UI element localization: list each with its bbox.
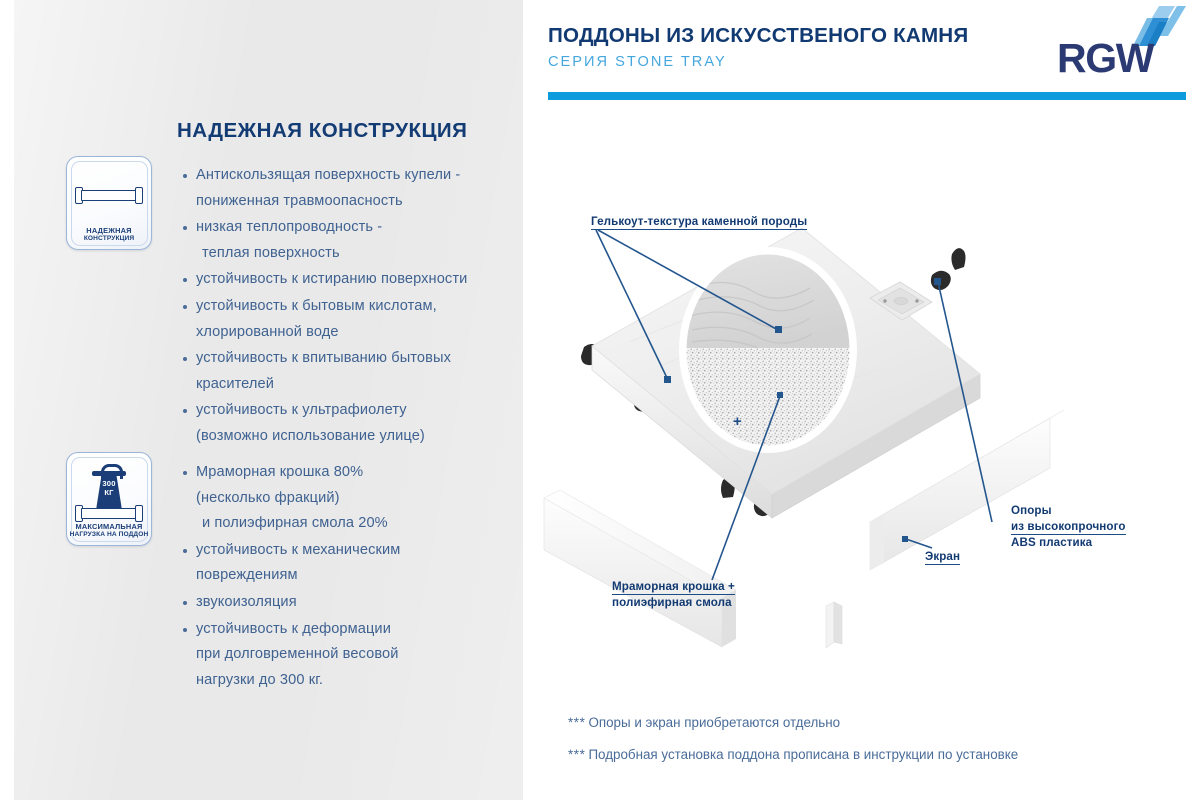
screen-panel-left [544, 490, 736, 647]
footnote: ***Опоры и экран приобретаются отдельно [568, 714, 1168, 732]
left-panel-title: НАДЕЖНАЯ КОНСТРУКЦИЯ [177, 119, 497, 143]
list-item-line: устойчивость к впитыванию бытовых [196, 346, 533, 372]
list-item-line: устойчивость к истиранию поверхности [196, 267, 533, 293]
list-item: устойчивость к ультрафиолету(возможно ис… [181, 398, 533, 449]
label-marble-resin: Мраморная крошка + полиэфирная смола [612, 579, 735, 610]
shower-tray-profile-icon [75, 187, 143, 203]
list-item-line: (возможно использование улице) [196, 424, 533, 450]
badge-caption-line-1: МАКСИМАЛЬНАЯ [67, 523, 151, 532]
footnote-text: Опоры и экран приобретаются отдельно [588, 715, 840, 730]
weight-unit: КГ [104, 488, 113, 497]
list-item: Мраморная крошка 80%(несколько фракций) … [181, 460, 533, 537]
shower-tray-profile-icon [75, 505, 143, 521]
list-item: устойчивость к бытовым кислотам,хлориров… [181, 294, 533, 345]
header-divider [548, 92, 1186, 100]
list-item-line: повреждениям [196, 563, 533, 589]
badge-caption-line-2: КОНСТРУКЦИЯ [67, 235, 151, 243]
weight-label: 300 КГ [92, 480, 126, 497]
badge-caption: МАКСИМАЛЬНАЯ НАГРУЗКА НА ПОДДОН [67, 523, 151, 539]
list-item-line: теплая поверхность [196, 241, 533, 267]
list-item: звукоизоляция [181, 590, 533, 616]
list-item-line: хлорированной воде [196, 320, 533, 346]
feature-list-reliable-construction: Антискользящая поверхность купели -пониж… [181, 163, 533, 451]
list-item: устойчивость к впитыванию бытовыхкрасите… [181, 346, 533, 397]
list-item: устойчивость к деформациипри долговремен… [181, 617, 533, 694]
list-item-line: низкая теплопроводность - [196, 215, 533, 241]
badge-caption-line-1: НАДЕЖНАЯ [67, 227, 151, 236]
tray-right-cap [135, 505, 143, 522]
footnote-asterisks: *** [568, 715, 585, 730]
footnote: ***Подробная установка поддона прописана… [568, 746, 1168, 764]
footnote-asterisks: *** [568, 747, 585, 762]
plus-symbol: + [733, 413, 742, 430]
label-abs-supports-line-2: из высокопрочного [1011, 519, 1126, 536]
list-item-line: устойчивость к деформации [196, 617, 533, 643]
list-item: Антискользящая поверхность купели -пониж… [181, 163, 533, 214]
feature-list-max-load: Мраморная крошка 80%(несколько фракций) … [181, 460, 533, 694]
list-item-line: устойчивость к ультрафиолету [196, 398, 533, 424]
rgw-logo: RGW [1055, 4, 1187, 80]
label-abs-supports: Опоры из высокопрочного ABS пластика [1011, 503, 1126, 551]
badge-caption: НАДЕЖНАЯ КОНСТРУКЦИЯ [67, 227, 151, 243]
max-load-weight-icon: 300 КГ [92, 464, 126, 510]
tray-right-cap [135, 187, 143, 204]
list-item: устойчивость к механическимповреждениям [181, 538, 533, 589]
list-item: устойчивость к истиранию поверхности [181, 267, 533, 293]
list-item-line: Мраморная крошка 80% [196, 460, 533, 486]
label-abs-supports-line-3: ABS пластика [1011, 536, 1092, 549]
footnote-text: Подробная установка поддона прописана в … [588, 747, 1018, 762]
list-item: низкая теплопроводность - теплая поверхн… [181, 215, 533, 266]
left-panel: НАДЕЖНАЯ КОНСТРУКЦИЯ НАДЕЖНАЯ КОНСТРУКЦИ… [14, 0, 523, 800]
label-marble-resin-line-2: полиэфирная смола [612, 596, 732, 609]
label-gelcoat: Гелькоут-текстура каменной породы [591, 214, 807, 230]
list-item-line: Антискользящая поверхность купели - [196, 163, 533, 189]
tray-body [81, 190, 137, 201]
badge-caption-line-2: НАГРУЗКА НА ПОДДОН [67, 531, 151, 539]
list-item-line: звукоизоляция [196, 590, 533, 616]
rgw-logo-text: RGW [1057, 35, 1153, 82]
badge-max-load: 300 КГ МАКСИМАЛЬНАЯ НАГРУЗКА НА ПОДДОН [66, 452, 152, 546]
label-abs-supports-line-1: Опоры [1011, 504, 1052, 517]
footnotes: ***Опоры и экран приобретаются отдельно*… [568, 714, 1168, 778]
badge-reliable-construction: НАДЕЖНАЯ КОНСТРУКЦИЯ [66, 156, 152, 250]
list-item-line: устойчивость к бытовым кислотам, [196, 294, 533, 320]
list-item-line: устойчивость к механическим [196, 538, 533, 564]
label-marble-resin-line-1: Мраморная крошка + [612, 579, 735, 595]
list-item-line: красителей [196, 372, 533, 398]
list-item-line: пониженная травмоопасность [196, 189, 533, 215]
infographic-page: НАДЕЖНАЯ КОНСТРУКЦИЯ НАДЕЖНАЯ КОНСТРУКЦИ… [0, 0, 1200, 800]
list-item-line: нагрузки до 300 кг. [196, 668, 533, 694]
label-screen: Экран [925, 549, 960, 565]
list-item-line: и полиэфирная смола 20% [196, 511, 533, 537]
list-item-line: (несколько фракций) [196, 486, 533, 512]
tray-body [81, 508, 137, 519]
screen-corner-joint [826, 602, 842, 648]
list-item-line: при долговременной весовой [196, 642, 533, 668]
